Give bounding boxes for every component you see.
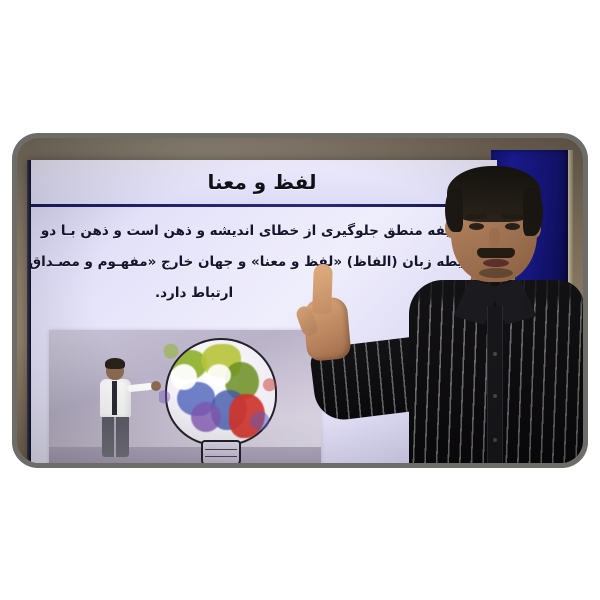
- man-hand: [151, 381, 161, 391]
- lightbulb-base-icon: [201, 440, 241, 463]
- illustration-man: [93, 360, 139, 456]
- presenter-moustache: [477, 248, 515, 258]
- presenter-nose: [489, 228, 500, 248]
- slide-title: لفظ و معنا: [207, 170, 316, 194]
- man-leg-gap: [114, 417, 116, 457]
- presenter-pointing-finger: [312, 264, 333, 315]
- paint-splatter: [159, 332, 279, 452]
- video-player-frame[interactable]: لفظ و معنا ✓وظیفه منطق جلوگیری از خطای ا…: [12, 133, 588, 468]
- presenter-eye-left: [469, 223, 484, 230]
- presenter-figure: [409, 156, 583, 463]
- screen-left-bezel: [27, 160, 31, 463]
- presenter-mouth: [483, 259, 509, 267]
- video-viewport: لفظ و معنا ✓وظیفه منطق جلوگیری از خطای ا…: [17, 138, 583, 463]
- presenter-eye-right: [505, 223, 520, 230]
- presenter-shirt-button: [493, 352, 497, 356]
- presenter-shirt-button: [493, 438, 497, 442]
- slide-body-line-2: حیطه زبان (الفاظ) «لفظ و معنا» و جهان خا…: [37, 247, 473, 278]
- presenter-hair-side-right: [523, 188, 543, 236]
- man-hair: [105, 358, 125, 369]
- man-tie: [112, 381, 117, 415]
- presenter-hair-side-left: [445, 188, 463, 232]
- presenter-shirt-button: [493, 394, 497, 398]
- presenter-chin-beard: [479, 268, 513, 278]
- slide-body-line-1-text: وظیفه منطق جلوگیری از خطای اندیشه و ذهن …: [41, 223, 472, 239]
- man-arm: [127, 383, 154, 393]
- slide-illustration: [49, 330, 321, 463]
